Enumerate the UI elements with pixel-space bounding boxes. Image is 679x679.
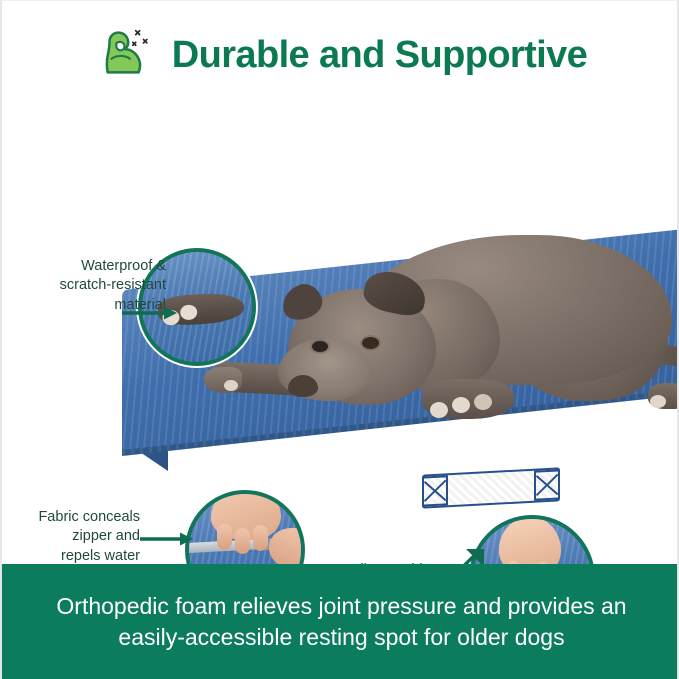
bed-built-in-handle [422,467,560,508]
arrow-right-icon [122,305,180,321]
dog-eye-right [362,337,379,349]
flexed-bicep-icon [96,22,158,84]
callout-label-zipper: Fabric concealszipper andrepels water [8,508,140,564]
handle-stitch-left [422,475,448,506]
dog-extended-paw [204,367,242,393]
product-photo: Waterproof &scratch-resistantmaterial Fa… [4,105,679,564]
banner-text: Orthopedic foam relieves joint pressure … [2,591,679,654]
hand-left [211,490,281,540]
arrow-right-icon [140,531,196,547]
infographic-page: Durable and Supportive [0,0,679,679]
bottom-banner: Orthopedic foam relieves joint pressure … [2,564,679,679]
dog-eye-left [312,341,328,352]
dog-rear-paw [648,383,679,409]
handle-stitch-right [534,469,560,500]
arrow-up-right-icon [444,543,488,564]
hand-right [269,528,305,564]
dog-photo [266,227,679,442]
page-title: Durable and Supportive [172,36,587,74]
circle-concealed-zipper [185,490,305,564]
header: Durable and Supportive [2,1,679,109]
dog-front-paws [422,379,514,419]
dog-nose [288,375,318,397]
